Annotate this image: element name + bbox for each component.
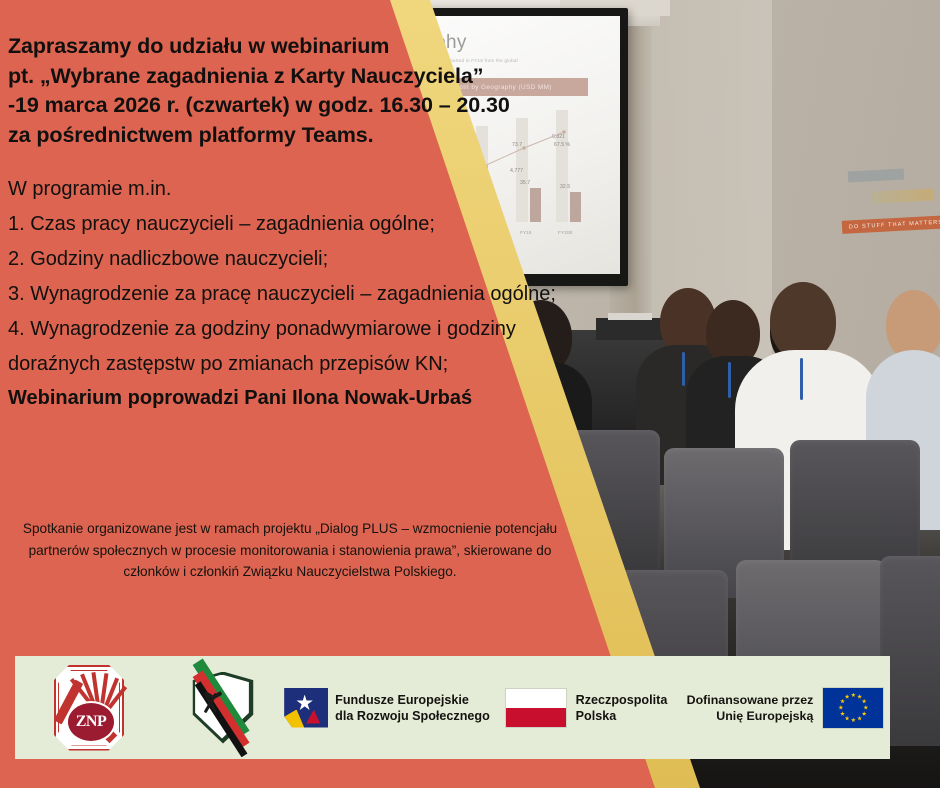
- logo-slot-znp: ZNP: [15, 656, 163, 759]
- fe-flag-icon: [284, 688, 328, 728]
- program-speaker: Webinarium poprowadzi Pani Ilona Nowak-U…: [8, 382, 608, 415]
- program-intro: W programie m.in.: [8, 172, 608, 207]
- rzeczpospolita-polska-logo: Rzeczpospolita Polska: [491, 656, 681, 759]
- poland-line-2: Polska: [576, 708, 668, 724]
- eu-line-2: Unię Europejską: [687, 708, 814, 724]
- dofinansowane-ue-logo: Dofinansowane przez Unię Europejską: [681, 656, 890, 759]
- program-item-1: 1. Czas pracy nauczycieli – zagadnienia …: [8, 207, 608, 242]
- eu-flag-icon: [822, 687, 884, 729]
- eu-label: Dofinansowane przez Unię Europejską: [687, 692, 814, 724]
- headline-line-4: za pośrednictwem platformy Teams.: [8, 121, 608, 151]
- av-equipment-paper: [608, 313, 652, 320]
- headline-line-2: pt. „Wybrane zagadnienia z Karty Nauczyc…: [8, 62, 608, 92]
- eu-line-1: Dofinansowane przez: [687, 692, 814, 708]
- headline-line-1: Zapraszamy do udziału w webinarium: [8, 32, 608, 62]
- program-item-3: 3. Wynagrodzenie za pracę nauczycieli – …: [8, 277, 560, 312]
- mining-union-shield-logo: [187, 672, 259, 744]
- poland-label: Rzeczpospolita Polska: [576, 692, 668, 724]
- fe-line-1: Fundusze Europejskie: [335, 692, 490, 708]
- poland-line-1: Rzeczpospolita: [576, 692, 668, 708]
- project-fineprint: Spotkanie organizowane jest w ramach pro…: [16, 518, 564, 583]
- headline-block: Zapraszamy do udziału w webinarium pt. „…: [8, 0, 608, 150]
- wall-sign-text: DO STUFF THAT MATTERS: [849, 219, 940, 230]
- poster-canvas: Geography High revenue generation is rep…: [0, 0, 940, 788]
- program-item-2: 2. Godziny nadliczbowe nauczycieli;: [8, 242, 608, 277]
- znp-logo: ZNP: [54, 665, 124, 751]
- headline-line-3: -19 marca 2026 r. (czwartek) w godz. 16.…: [8, 91, 608, 121]
- logo-slot-mining-union: [163, 656, 283, 759]
- znp-monogram: ZNP: [66, 701, 116, 743]
- crossed-hammers-icon: [199, 692, 223, 716]
- znp-abbr: ZNP: [76, 713, 107, 731]
- fundusze-europejskie-logo: Fundusze Europejskie dla Rozwoju Społecz…: [283, 656, 491, 759]
- program-block: W programie m.in. 1. Czas pracy nauczyci…: [8, 150, 608, 415]
- fe-line-2: dla Rozwoju Społecznego: [335, 708, 490, 724]
- program-item-4: 4. Wynagrodzenie za godziny ponadwymiaro…: [8, 312, 553, 382]
- poster-copy: Zapraszamy do udziału w webinarium pt. „…: [0, 0, 608, 415]
- logo-bar: ZNP: [15, 656, 890, 759]
- poland-flag-icon: [505, 688, 567, 728]
- fe-label: Fundusze Europejskie dla Rozwoju Społecz…: [335, 692, 490, 724]
